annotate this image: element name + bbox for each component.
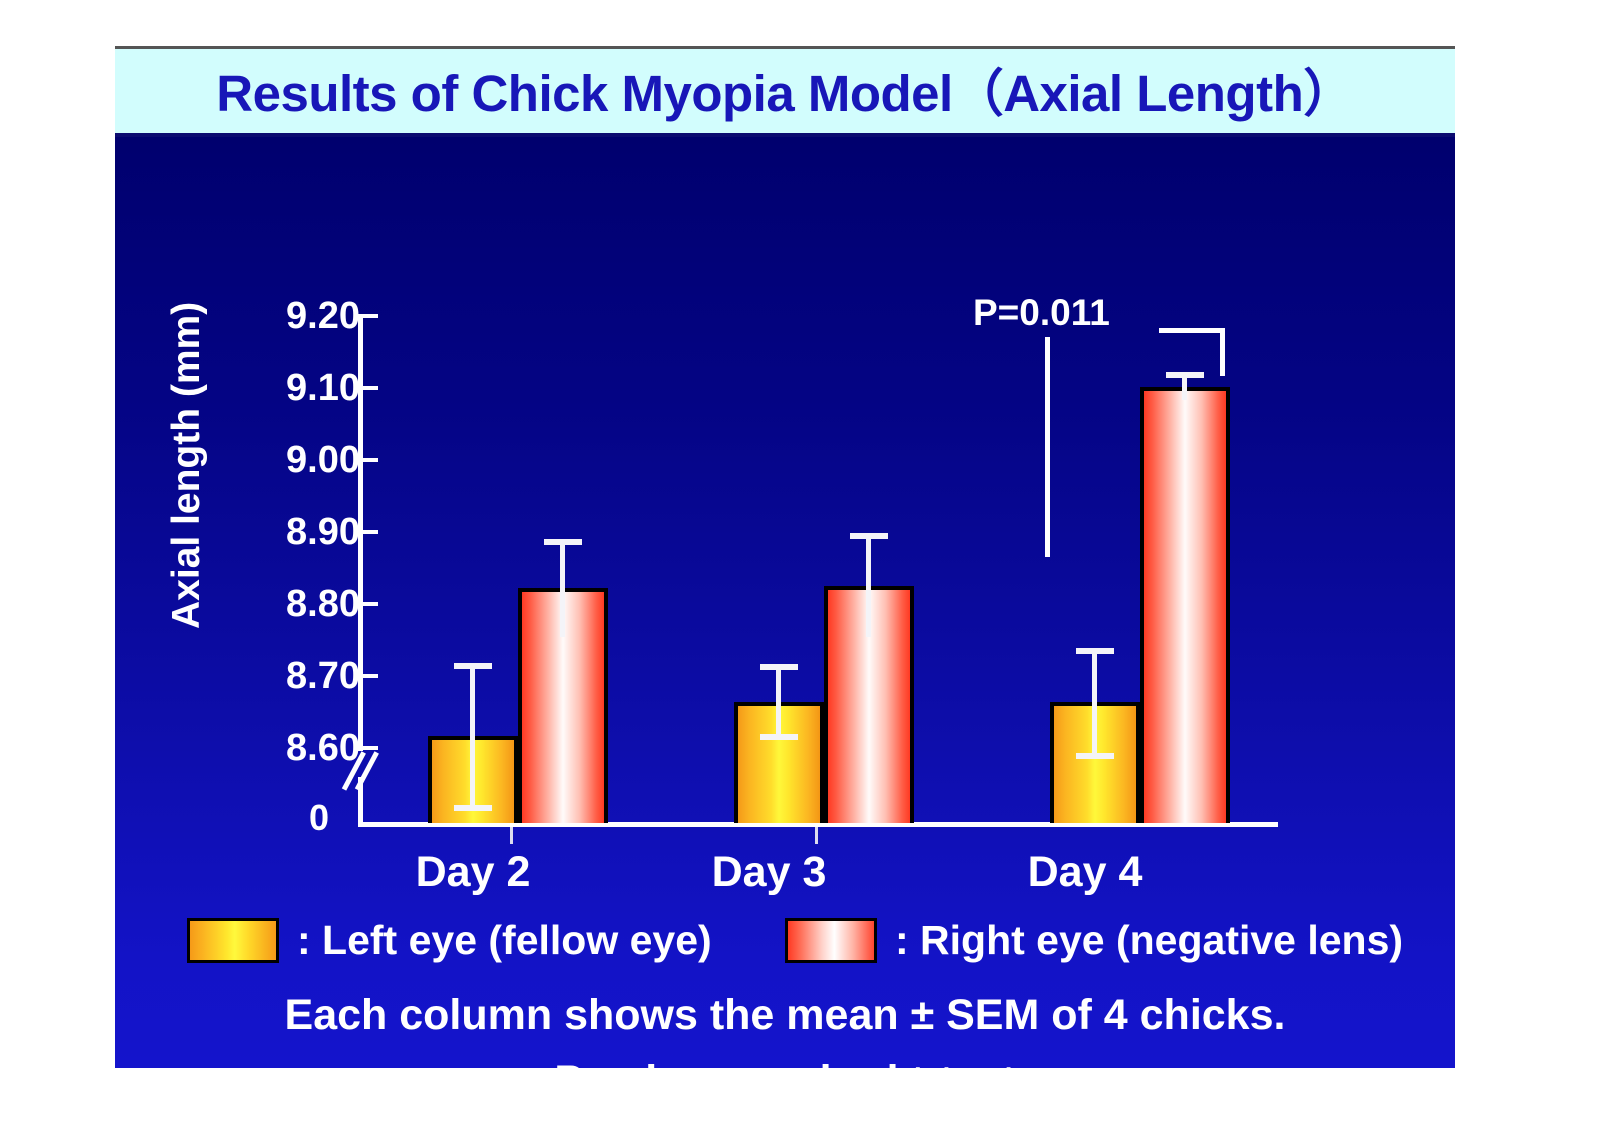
error-bar-stem-day3-right-eye — [866, 533, 871, 637]
legend-swatch-left-eye-icon — [187, 918, 279, 963]
error-bar-stem-day2-right-eye — [560, 539, 565, 637]
x-category-label-day3: Day 3 — [619, 848, 919, 897]
x-tick-mark-1 — [510, 827, 513, 844]
legend-item-left-eye: : Left eye (fellow eye) — [187, 917, 712, 964]
y-tick-label-890: 8.90 — [240, 511, 360, 554]
x-tick-mark-2 — [815, 827, 818, 844]
pvalue-bracket-right-leg — [1220, 328, 1225, 376]
caption-line-1: Each column shows the mean ± SEM of 4 ch… — [115, 991, 1455, 1040]
pvalue-bracket-left-leg — [1045, 337, 1050, 557]
error-bar-cap-upper-day2-right-eye — [544, 539, 582, 545]
y-tick-label-910: 9.10 — [240, 367, 360, 410]
error-bar-stem-day4-left-eye — [1092, 648, 1097, 759]
y-tick-mark-860 — [363, 746, 378, 750]
y-tick-label-920: 9.20 — [240, 295, 360, 338]
y-tick-label-900: 9.00 — [240, 439, 360, 482]
chart-legend: : Left eye (fellow eye) : Right eye (neg… — [115, 917, 1455, 979]
legend-label-right-eye: : Right eye (negative lens) — [895, 917, 1403, 964]
pvalue-bracket-horizontal — [1159, 328, 1225, 333]
y-axis-zero-label: 0 — [309, 797, 329, 839]
x-category-label-day2: Day 2 — [323, 848, 623, 897]
legend-swatch-right-eye-icon — [785, 918, 877, 963]
slide-canvas: Results of Chick Myopia Model（Axial Leng… — [115, 46, 1455, 1068]
chart-plot-area: Axial length (mm) 9.20 9.10 9.00 8.90 8.… — [115, 137, 1455, 1068]
y-tick-mark-920 — [363, 314, 378, 318]
caption-line-2: P-values : paired t-test — [115, 1057, 1455, 1068]
error-bar-cap-lower-day2-left-eye — [454, 805, 492, 811]
error-bar-cap-lower-day3-left-eye — [760, 734, 798, 740]
y-tick-label-880: 8.80 — [240, 583, 360, 626]
y-axis-title: Axial length (mm) — [165, 329, 209, 629]
pvalue-annotation-label: P=0.011 — [973, 292, 1110, 334]
page-title: Results of Chick Myopia Model（Axial Leng… — [216, 52, 1353, 126]
y-tick-label-870: 8.70 — [240, 655, 360, 698]
error-bar-cap-upper-day4-right-eye — [1166, 372, 1204, 378]
y-tick-mark-880 — [363, 602, 378, 606]
legend-item-right-eye: : Right eye (negative lens) — [785, 917, 1403, 964]
y-tick-mark-870 — [363, 674, 378, 678]
axis-break-icon — [342, 753, 382, 798]
y-tick-mark-910 — [363, 386, 378, 390]
error-bar-cap-upper-day4-left-eye — [1076, 648, 1114, 654]
x-category-label-day4: Day 4 — [935, 848, 1235, 897]
y-tick-mark-890 — [363, 530, 378, 534]
y-tick-mark-900 — [363, 458, 378, 462]
error-bar-stem-day3-left-eye — [776, 664, 781, 740]
error-bar-cap-lower-day4-left-eye — [1076, 753, 1114, 759]
bar-day4-right-eye — [1140, 387, 1230, 823]
error-bar-cap-upper-day2-left-eye — [454, 663, 492, 669]
legend-label-left-eye: : Left eye (fellow eye) — [297, 917, 712, 964]
error-bar-cap-upper-day3-right-eye — [850, 533, 888, 539]
title-banner: Results of Chick Myopia Model（Axial Leng… — [115, 46, 1455, 137]
error-bar-cap-upper-day3-left-eye — [760, 664, 798, 670]
error-bar-stem-day2-left-eye — [470, 663, 475, 811]
